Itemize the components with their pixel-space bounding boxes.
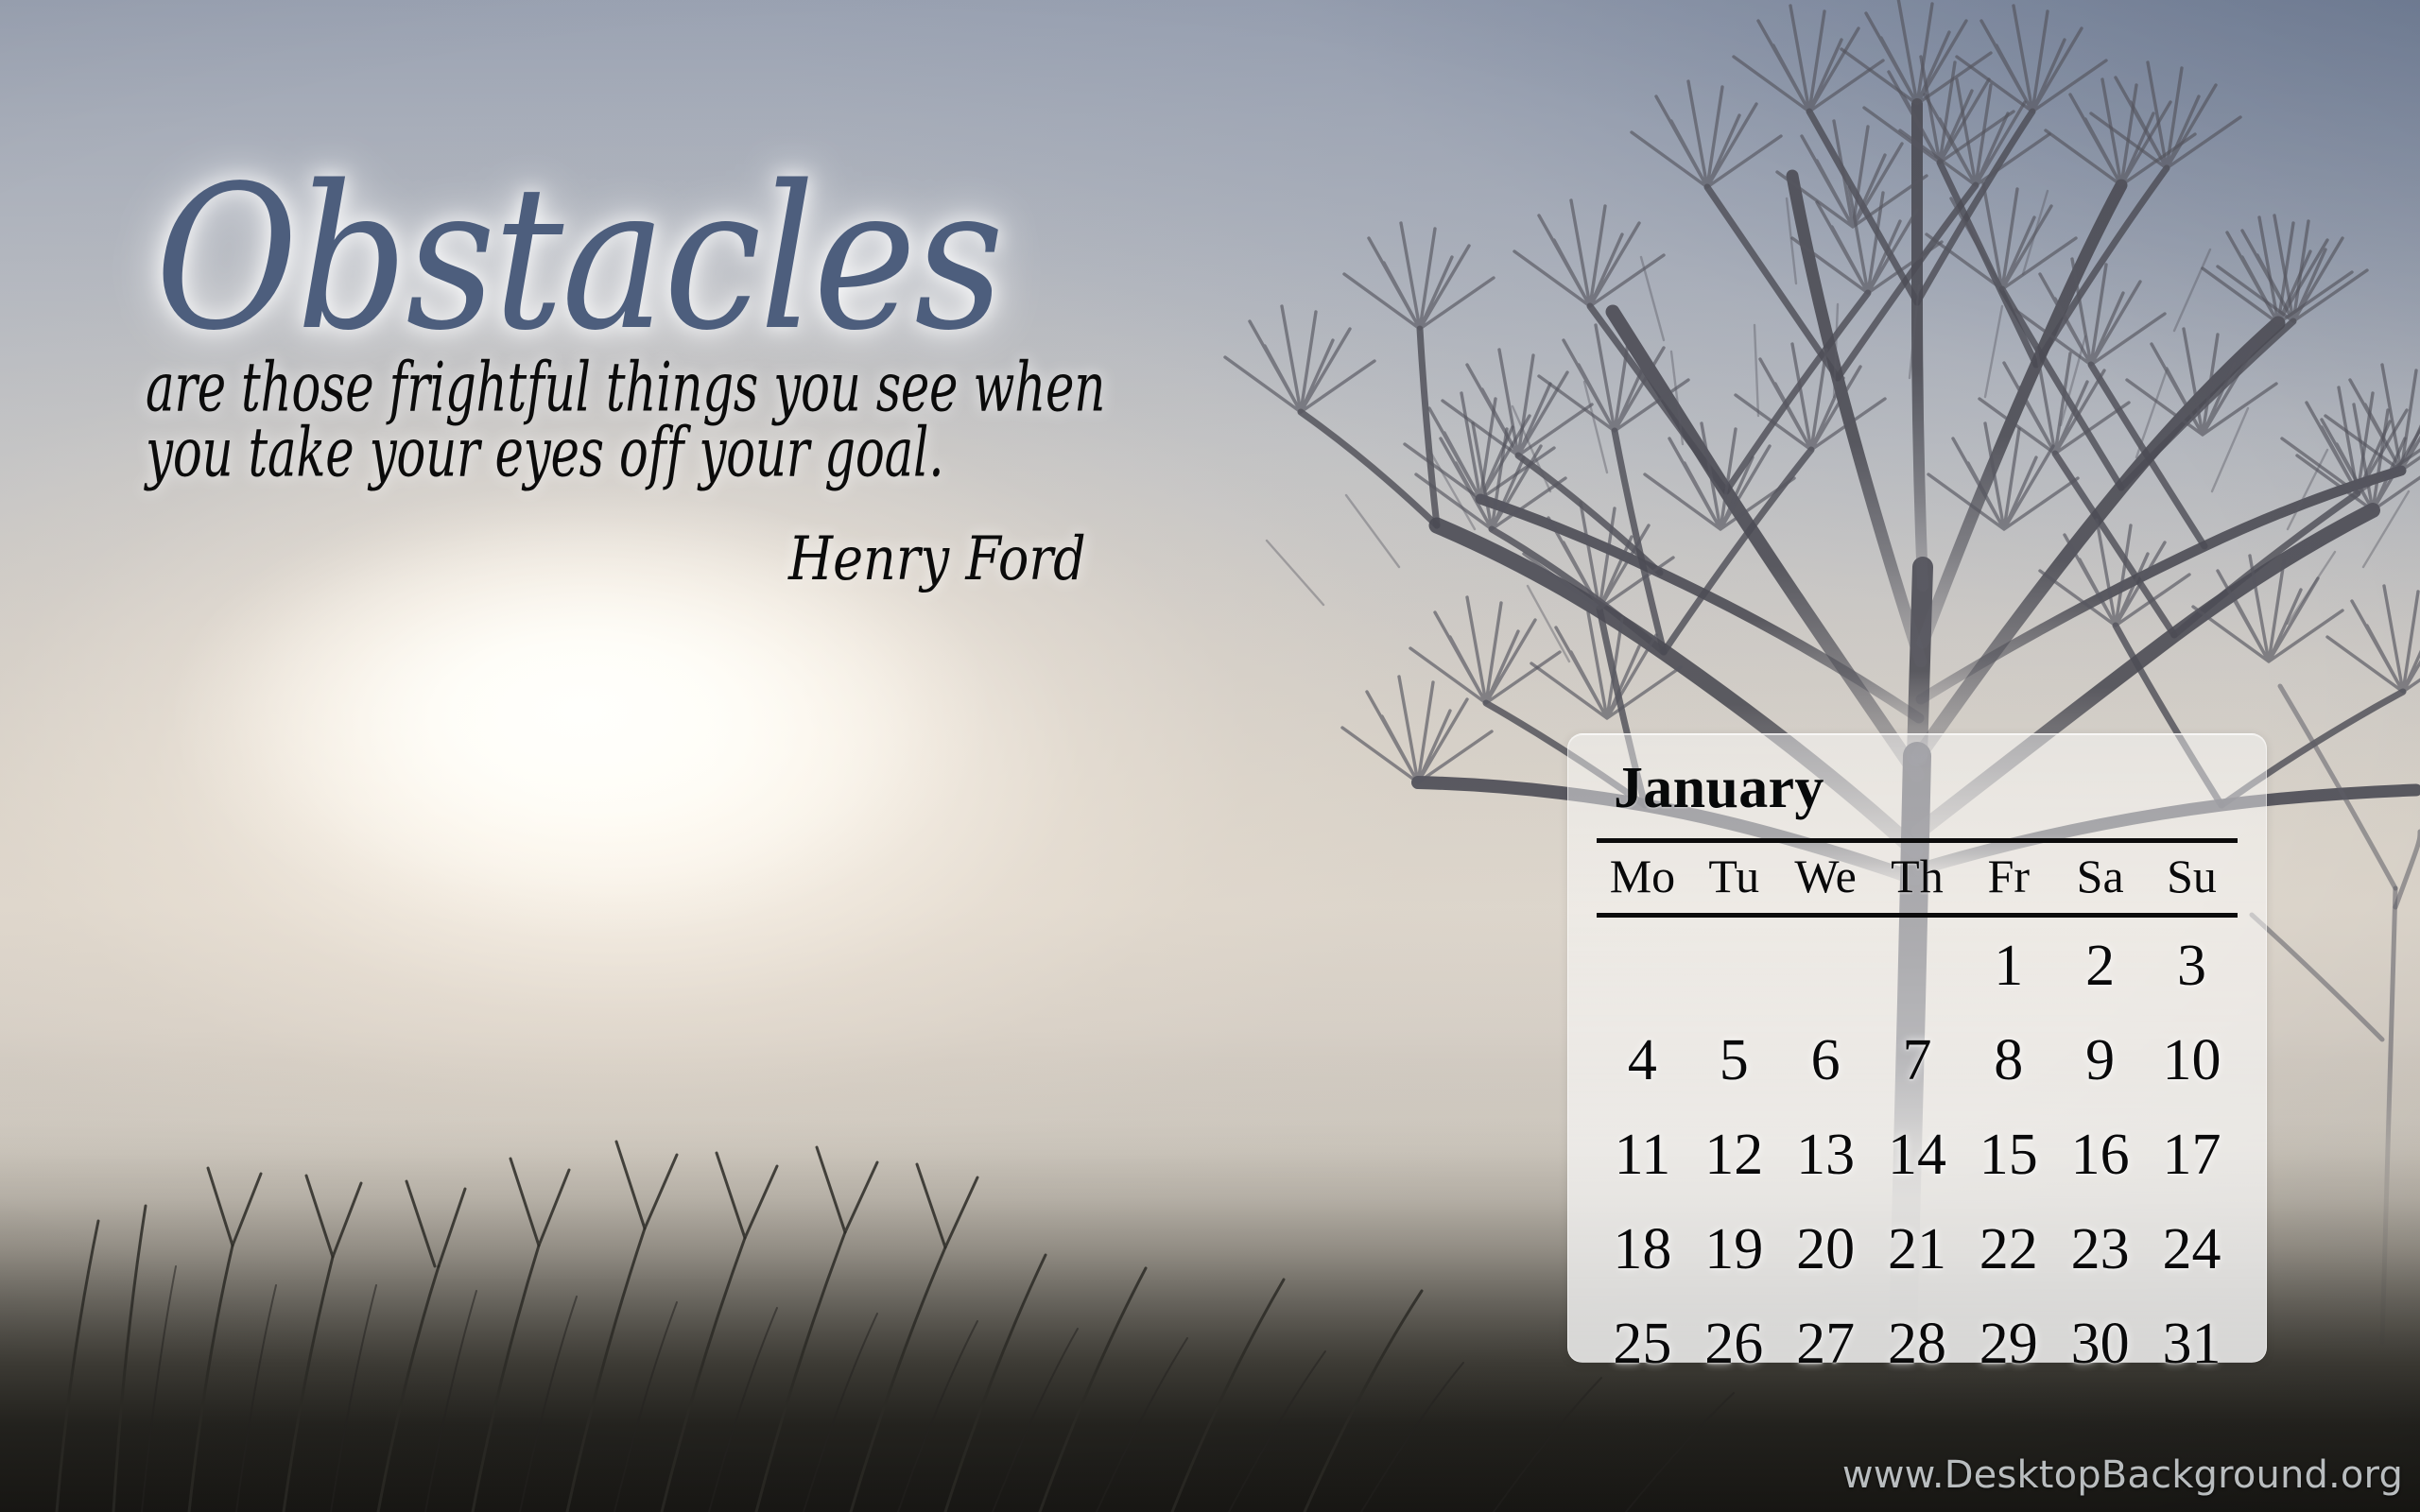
calendar-day-empty <box>1780 916 1872 1013</box>
calendar-day-5[interactable]: 5 <box>1688 1012 1780 1107</box>
calendar-day-12[interactable]: 12 <box>1688 1107 1780 1201</box>
calendar-day-21[interactable]: 21 <box>1872 1201 1963 1296</box>
calendar-day-31[interactable]: 31 <box>2146 1296 2238 1390</box>
calendar-day-22[interactable]: 22 <box>1962 1201 2054 1296</box>
calendar-day-20[interactable]: 20 <box>1780 1201 1872 1296</box>
calendar-day-6[interactable]: 6 <box>1780 1012 1872 1107</box>
calendar-day-2[interactable]: 2 <box>2054 916 2146 1013</box>
calendar-week-row: 11121314151617 <box>1597 1107 2238 1201</box>
calendar-day-29[interactable]: 29 <box>1962 1296 2054 1390</box>
wallpaper-canvas: Obstacles are those frightful things you… <box>0 0 2420 1512</box>
calendar-day-15[interactable]: 15 <box>1962 1107 2054 1201</box>
calendar-day-26[interactable]: 26 <box>1688 1296 1780 1390</box>
calendar-day-rows: 1234567891011121314151617181920212223242… <box>1597 916 2238 1391</box>
calendar-day-11[interactable]: 11 <box>1597 1107 1688 1201</box>
quote-block: Obstacles are those frightful things you… <box>142 165 1257 593</box>
calendar-day-empty <box>1688 916 1780 1013</box>
calendar-day-8[interactable]: 8 <box>1962 1012 2054 1107</box>
quote-headline: Obstacles <box>155 165 1125 352</box>
calendar-day-19[interactable]: 19 <box>1688 1201 1780 1296</box>
quote-line-2: you take your eyes off your goal. <box>146 415 1068 490</box>
calendar-weekday-su: Su <box>2146 841 2238 916</box>
calendar-day-1[interactable]: 1 <box>1962 916 2054 1013</box>
calendar-day-9[interactable]: 9 <box>2054 1012 2146 1107</box>
calendar-week-row: 18192021222324 <box>1597 1201 2238 1296</box>
calendar-week-row: 123 <box>1597 916 2238 1013</box>
calendar-day-4[interactable]: 4 <box>1597 1012 1688 1107</box>
calendar-weekday-fr: Fr <box>1962 841 2054 916</box>
calendar-day-28[interactable]: 28 <box>1872 1296 1963 1390</box>
site-watermark: www.DesktopBackground.org <box>1842 1453 2403 1497</box>
calendar-day-17[interactable]: 17 <box>2146 1107 2238 1201</box>
calendar-weekday-row: MoTuWeThFrSaSu <box>1597 841 2238 916</box>
calendar-day-18[interactable]: 18 <box>1597 1201 1688 1296</box>
calendar-week-row: 25262728293031 <box>1597 1296 2238 1390</box>
calendar-day-23[interactable]: 23 <box>2054 1201 2146 1296</box>
calendar-day-empty <box>1597 916 1688 1013</box>
quote-attribution: Henry Ford <box>142 524 1146 594</box>
calendar-day-30[interactable]: 30 <box>2054 1296 2146 1390</box>
calendar-day-7[interactable]: 7 <box>1872 1012 1963 1107</box>
calendar-day-27[interactable]: 27 <box>1780 1296 1872 1390</box>
calendar-weekday-sa: Sa <box>2054 841 2146 916</box>
calendar-grid: MoTuWeThFrSaSu 1234567891011121314151617… <box>1597 838 2238 1390</box>
calendar-weekday-tu: Tu <box>1688 841 1780 916</box>
calendar-panel[interactable]: January MoTuWeThFrSaSu 12345678910111213… <box>1567 733 2267 1363</box>
calendar-day-16[interactable]: 16 <box>2054 1107 2146 1201</box>
calendar-day-25[interactable]: 25 <box>1597 1296 1688 1390</box>
calendar-day-24[interactable]: 24 <box>2146 1201 2238 1296</box>
calendar-weekday-we: We <box>1780 841 1872 916</box>
calendar-day-3[interactable]: 3 <box>2146 916 2238 1013</box>
calendar-weekday-th: Th <box>1872 841 1963 916</box>
calendar-day-empty <box>1872 916 1963 1013</box>
calendar-weekday-mo: Mo <box>1597 841 1688 916</box>
calendar-week-row: 45678910 <box>1597 1012 2238 1107</box>
calendar-day-14[interactable]: 14 <box>1872 1107 1963 1201</box>
calendar-month-title: January <box>1614 759 2238 817</box>
calendar-day-13[interactable]: 13 <box>1780 1107 1872 1201</box>
calendar-day-10[interactable]: 10 <box>2146 1012 2238 1107</box>
